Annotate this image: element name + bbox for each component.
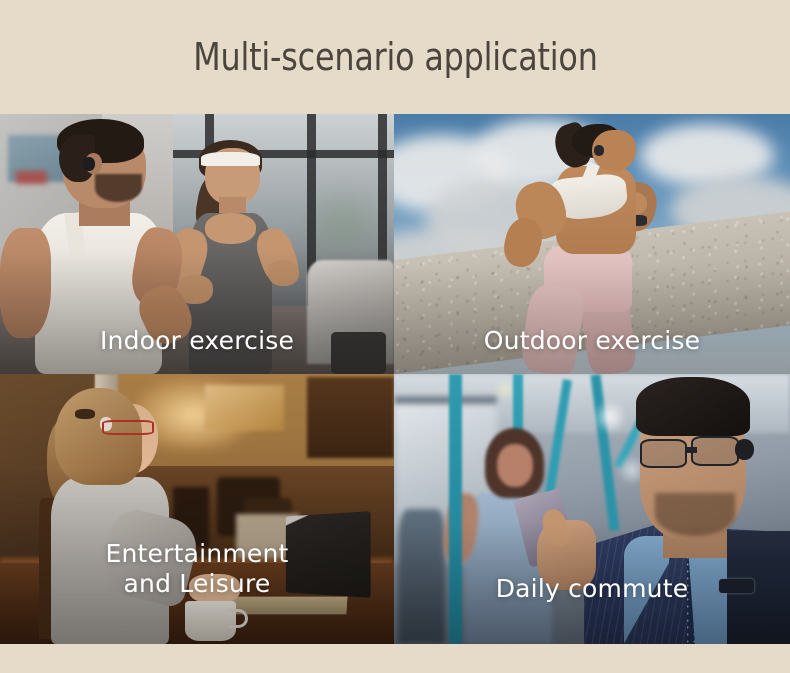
multi-scenario-application-page: Multi-scenario application	[0, 0, 790, 673]
page-header: Multi-scenario application	[0, 0, 790, 114]
scenario-card-daily-commute[interactable]: Daily commute	[394, 374, 790, 644]
page-title: Multi-scenario application	[193, 35, 597, 79]
scenario-label-daily-commute: Daily commute	[394, 574, 790, 604]
scenario-card-entertainment-and-leisure[interactable]: Entertainment and Leisure	[0, 374, 394, 644]
scenario-label-indoor-exercise: Indoor exercise	[0, 326, 394, 356]
scenario-label-outdoor-exercise: Outdoor exercise	[394, 326, 790, 356]
scenario-grid: Indoor exercise	[0, 114, 790, 644]
entertainment-and-leisure-photo	[0, 374, 394, 644]
scenario-card-indoor-exercise[interactable]: Indoor exercise	[0, 114, 394, 374]
scenario-label-line-2: and Leisure	[0, 569, 394, 599]
scenario-card-outdoor-exercise[interactable]: Outdoor exercise	[394, 114, 790, 374]
scenario-label-entertainment-and-leisure: Entertainment and Leisure	[0, 539, 394, 599]
scenario-label-line-1: Entertainment	[0, 539, 394, 569]
photo-vignette	[0, 374, 394, 644]
page-footer-strip	[0, 644, 790, 673]
